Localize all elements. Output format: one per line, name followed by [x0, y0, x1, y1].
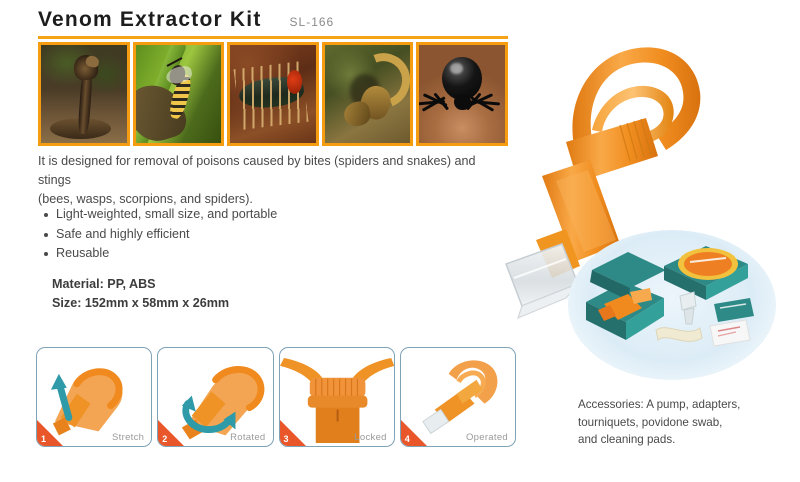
step-panel-stretch: 1 Stretch	[36, 347, 152, 447]
step-label: Locked	[354, 432, 386, 443]
step-panel-rotated: 2 Rotated	[157, 347, 273, 447]
wasp-photo	[133, 42, 225, 146]
step-label: Operated	[466, 432, 508, 443]
model-number: SL-166	[290, 15, 335, 29]
cobra-photo	[38, 42, 130, 146]
usage-steps: 1 Stretch 2 Rotated	[36, 347, 516, 447]
list-item: Light-weighted, small size, and portable	[42, 205, 442, 225]
step-number: 2	[162, 434, 167, 444]
accessories-caption: Accessories: A pump, adapters, tournique…	[578, 396, 783, 449]
spec-block: Material: PP, ABS Size: 152mm x 58mm x 2…	[52, 275, 229, 313]
step-number: 4	[405, 434, 410, 444]
list-item: Safe and highly efficient	[42, 225, 442, 245]
step-panel-operated: 4 Operated	[400, 347, 516, 447]
header-rule	[38, 36, 508, 39]
description: It is designed for removal of poisons ca…	[38, 152, 508, 209]
accessories-caption-line-1: Accessories: A pump, adapters,	[578, 396, 783, 414]
step-label: Stretch	[112, 432, 144, 443]
step-number: 3	[284, 434, 289, 444]
spec-size: Size: 152mm x 58mm x 26mm	[52, 294, 229, 313]
centipede-photo	[227, 42, 319, 146]
spec-material: Material: PP, ABS	[52, 275, 229, 294]
scorpion-photo	[322, 42, 414, 146]
page-title: Venom Extractor Kit	[38, 8, 262, 32]
accessories-caption-line-3: and cleaning pads.	[578, 431, 783, 449]
step-panel-locked: 3 Locked	[279, 347, 395, 447]
accessories-photo	[568, 230, 776, 380]
step-label: Rotated	[230, 432, 265, 443]
accessories-caption-line-2: tourniquets, povidone swab,	[578, 414, 783, 432]
feature-list: Light-weighted, small size, and portable…	[42, 205, 442, 264]
description-line-1: It is designed for removal of poisons ca…	[38, 152, 508, 190]
product-sheet: Venom Extractor Kit SL-166	[0, 0, 800, 482]
hazard-photo-strip	[38, 42, 508, 146]
list-item: Reusable	[42, 244, 442, 264]
step-number: 1	[41, 434, 46, 444]
